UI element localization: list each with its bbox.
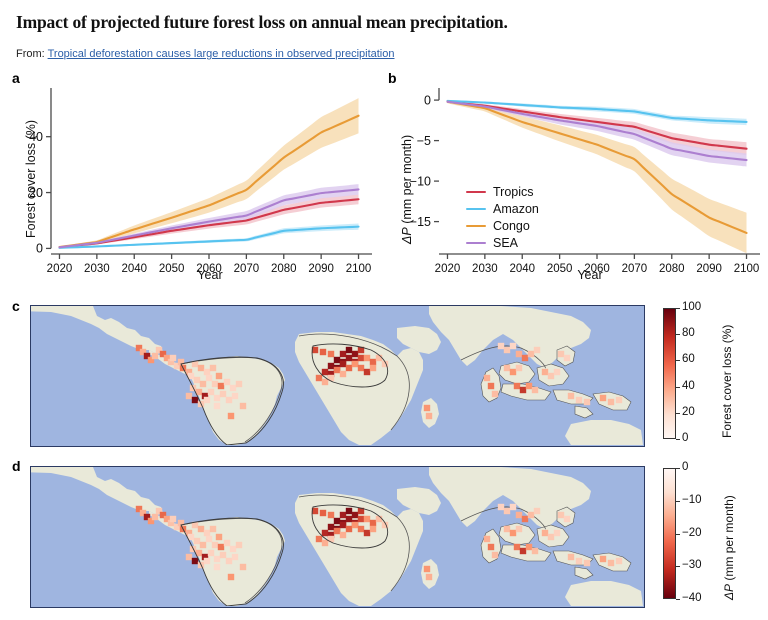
page-title: Impact of projected future forest loss o… — [16, 12, 756, 33]
panel-d-map-svg — [31, 467, 643, 606]
colorbar-tick — [676, 308, 680, 309]
colorbar-forest-cover-loss — [663, 308, 676, 439]
colorbar-tick — [676, 501, 680, 502]
colorbar-d-rest: (mm per month) — [722, 495, 736, 584]
legend-item-sea[interactable]: SEA — [466, 235, 539, 251]
svg-text:0: 0 — [36, 242, 43, 256]
panel-a-svg: 0204020202030204020502060207020802090210… — [0, 84, 380, 284]
colorbar-tick-label: −30 — [682, 559, 702, 571]
source-article-link[interactable]: Tropical deforestation causes large redu… — [48, 48, 395, 60]
legend-swatch-sea — [466, 242, 486, 245]
svg-text:0: 0 — [424, 93, 431, 107]
colorbar-tick — [676, 387, 680, 388]
colorbar-tick-label: 100 — [682, 301, 701, 313]
colorbar-tick-label: −10 — [682, 494, 702, 506]
colorbar-tick-label: 40 — [682, 380, 695, 392]
colorbar-tick-label: −20 — [682, 527, 702, 539]
panel-b-y-axis-delta: ΔP — [400, 227, 414, 244]
panel-b-legend: Tropics Amazon Congo SEA — [466, 184, 539, 252]
legend-item-congo[interactable]: Congo — [466, 218, 539, 234]
legend-label-sea: SEA — [493, 236, 518, 250]
panel-letter-c: c — [12, 298, 20, 314]
panel-c-map[interactable] — [30, 305, 645, 447]
svg-text:−5: −5 — [417, 134, 431, 148]
legend-swatch-amazon — [466, 208, 486, 211]
panel-letter-d: d — [12, 458, 21, 474]
colorbar-d-label: ΔP (mm per month) — [722, 495, 736, 600]
colorbar-tick — [676, 413, 680, 414]
colorbar-tick-label: 0 — [682, 461, 688, 473]
panel-b-y-axis-rest: (mm per month) — [400, 135, 414, 227]
source-line: From: Tropical deforestation causes larg… — [16, 48, 395, 60]
legend-swatch-congo — [466, 225, 486, 228]
colorbar-tick — [676, 566, 680, 567]
panel-a-x-axis-label: Year — [60, 268, 360, 282]
legend-label-amazon: Amazon — [493, 202, 539, 216]
legend-item-tropics[interactable]: Tropics — [466, 184, 539, 200]
colorbar-tick-label: −40 — [682, 592, 702, 604]
panel-c-map-svg — [31, 306, 643, 445]
legend-label-tropics: Tropics — [493, 185, 534, 199]
colorbar-tick-label: 20 — [682, 406, 695, 418]
colorbar-tick — [676, 599, 680, 600]
colorbar-tick — [676, 534, 680, 535]
panel-b-x-axis-label: Year — [440, 268, 740, 282]
colorbar-d-delta: ΔP — [722, 584, 736, 600]
colorbar-tick — [676, 334, 680, 335]
colorbar-tick — [676, 468, 680, 469]
colorbar-delta-p — [663, 468, 676, 599]
colorbar-tick-label: 0 — [682, 432, 688, 444]
colorbar-tick — [676, 439, 680, 440]
colorbar-tick-label: 60 — [682, 353, 695, 365]
panel-a-line-chart: 0204020202030204020502060207020802090210… — [0, 84, 380, 284]
panel-b-line-chart: 0−5−10−152020203020402050206020702080209… — [378, 84, 768, 284]
panel-b-svg: 0−5−10−152020203020402050206020702080209… — [378, 84, 768, 284]
colorbar-c-label: Forest cover loss (%) — [720, 325, 734, 438]
legend-item-amazon[interactable]: Amazon — [466, 201, 539, 217]
panel-a-y-axis-label: Forest cover loss (%) — [24, 120, 38, 238]
colorbar-tick-label: 80 — [682, 327, 695, 339]
panel-b-y-axis-label: ΔP (mm per month) — [400, 135, 414, 244]
source-prefix: From: — [16, 48, 45, 60]
legend-swatch-tropics — [466, 191, 486, 194]
legend-label-congo: Congo — [493, 219, 530, 233]
colorbar-tick — [676, 360, 680, 361]
panel-d-map[interactable] — [30, 466, 645, 608]
